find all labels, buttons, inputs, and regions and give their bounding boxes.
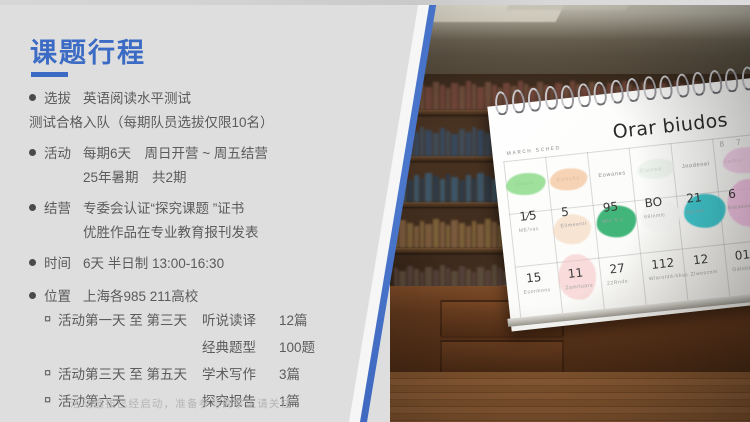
subline-text: 25年暑期 共2期 (83, 166, 187, 186)
calendar-highlight-blob (505, 171, 547, 197)
title-underline (31, 72, 68, 77)
bullet-dot-icon (29, 94, 36, 101)
footer-note: 活动选拔已经启动，准备参与的学生请关注 (70, 396, 292, 411)
calendar-cell-label: ME/vac (519, 226, 540, 234)
bullet-dot-icon (29, 204, 36, 211)
schedule-count: 12篇 (279, 309, 308, 329)
content-subline: 25年暑期 共2期 (0, 165, 420, 187)
bullet-dot-icon (29, 259, 36, 266)
spiral-ring (510, 89, 526, 114)
calendar-highlight-blob (552, 212, 593, 246)
subline-text: 优胜作品在专业教育报刊发表 (83, 221, 259, 241)
schedule-task: 听说读译 (202, 309, 256, 329)
item-label: 时间 (44, 252, 71, 272)
content-item: 结营专委会认证“探究课题 ”证书 (0, 196, 420, 220)
spiral-ring (658, 74, 674, 99)
item-value: 每期6天 周日开营 ~ 周五结营 (83, 142, 268, 162)
slide-content: 课题行程 选拔英语阅读水平测试测试合格入队（每期队员选拔仅限10名）活动每期6天… (0, 0, 420, 422)
calendar-cell-label: Zlwoscnm (690, 269, 718, 278)
calendar-page: Orar biudos ᴍᴀʀᴄʜ ꜱᴄʜᴇᴅ 8 7 chwnnKettuky… (487, 77, 750, 331)
schedule-count: 100题 (279, 336, 315, 356)
calendar-cell-number: 6 (727, 186, 736, 201)
spiral-ring (691, 71, 707, 96)
content-lines: 选拔英语阅读水平测试测试合格入队（每期队员选拔仅限10名）活动每期6天 周日开营… (0, 86, 420, 411)
content-subline: 测试合格入队（每期队员选拔仅限10名） (0, 110, 420, 132)
calendar-subtitle: ᴍᴀʀᴄʜ ꜱᴄʜᴇᴅ (506, 143, 561, 157)
wood-floor (390, 372, 750, 422)
calendar-highlight-blob (636, 157, 676, 181)
bullet-dot-icon (29, 292, 36, 299)
calendar-cell-number: 1⁄5 (519, 208, 538, 224)
spiral-ring (642, 76, 658, 101)
item-value: 上海各985 211高校 (83, 285, 198, 305)
schedule-marker-icon: ¤ (44, 392, 51, 407)
content-item: 选拔英语阅读水平测试 (0, 86, 420, 110)
calendar-cell-number: 95 (602, 199, 619, 215)
spiral-ring (576, 82, 592, 107)
calendar-cell-number: 12 (692, 252, 709, 268)
spiral-ring (625, 78, 641, 103)
calendar-header-label: Eowanes (598, 170, 626, 179)
spiral-ring (674, 73, 690, 98)
subline-text: 测试合格入队（每期队员选拔仅限10名） (29, 111, 274, 131)
content-subline: 优胜作品在专业教育报刊发表 (0, 220, 420, 242)
item-label: 选拔 (44, 87, 71, 107)
top-band (0, 0, 750, 5)
calendar-cell-number: 21 (686, 190, 703, 206)
page-title: 课题行程 (30, 31, 146, 70)
content-item: 时间6天 半日制 13:00-16:30 (0, 251, 420, 275)
spiral-ring (527, 87, 543, 112)
item-value: 专委会认证“探究课题 ”证书 (83, 197, 244, 217)
calendar-cell-number: 27 (609, 261, 626, 277)
spiral-ring (609, 79, 625, 104)
spiral-ring (592, 81, 608, 106)
calendar-cell-label: Esormoos (523, 287, 551, 296)
schedule-marker-icon: ¤ (44, 365, 51, 380)
spiral-ring (543, 86, 559, 111)
spiral-ring (494, 91, 510, 116)
calendar-cell-label: 22Rndn (607, 279, 629, 287)
content-item: 活动每期6天 周日开营 ~ 周五结营 (0, 141, 420, 165)
calendar-cell-number: BO (644, 194, 663, 210)
schedule-task: 经典题型 (202, 336, 256, 356)
calendar-highlight-blob (549, 166, 589, 192)
schedule-row: ¤活动第一天 至 第三天听说读译12篇 (0, 308, 420, 330)
schedule-range: 活动第一天 至 第三天 (58, 309, 187, 329)
presentation-slide: Orar biudos ᴍᴀʀᴄʜ ꜱᴄʜᴇᴅ 8 7 chwnnKettuky… (0, 0, 750, 422)
item-label: 结营 (44, 197, 71, 217)
schedule-task: 学术写作 (202, 363, 256, 383)
calendar-grid-line (515, 240, 750, 268)
content-item: 位置上海各985 211高校 (0, 284, 420, 308)
item-label: 活动 (44, 142, 71, 162)
schedule-count: 3篇 (279, 363, 300, 383)
calendar-cell-number: 15 (525, 270, 542, 286)
item-value: 6天 半日制 13:00-16:30 (83, 252, 224, 272)
desk-calendar: Orar biudos ᴍᴀʀᴄʜ ꜱᴄʜᴇᴅ 8 7 chwnnKettuky… (486, 63, 750, 331)
calendar-cell-number: 11 (567, 265, 584, 281)
calendar-cell-number: 5 (560, 205, 569, 220)
calendar-cell-number: 01 (734, 247, 750, 263)
library-photo: Orar biudos ᴍᴀʀᴄʜ ꜱᴄʜᴇᴅ 8 7 chwnnKettuky… (390, 0, 750, 422)
calendar-cell-label: Odlobbools (732, 264, 750, 273)
calendar-header-label: Jnodenel (682, 161, 710, 170)
schedule-range: 活动第三天 至 第五天 (58, 363, 187, 383)
calendar-cell-label: Wlaroldd-hkac (649, 272, 689, 282)
calendar-highlight-blob (721, 145, 750, 176)
schedule-row: 经典题型100题 (0, 335, 420, 357)
schedule-marker-icon: ¤ (44, 311, 51, 326)
calendar-cell-number: 112 (651, 256, 675, 272)
schedule-row: ¤活动第三天 至 第五天学术写作3篇 (0, 362, 420, 384)
spiral-ring (559, 84, 575, 109)
item-value: 英语阅读水平测试 (83, 87, 191, 107)
item-label: 位置 (44, 285, 71, 305)
bullet-dot-icon (29, 149, 36, 156)
